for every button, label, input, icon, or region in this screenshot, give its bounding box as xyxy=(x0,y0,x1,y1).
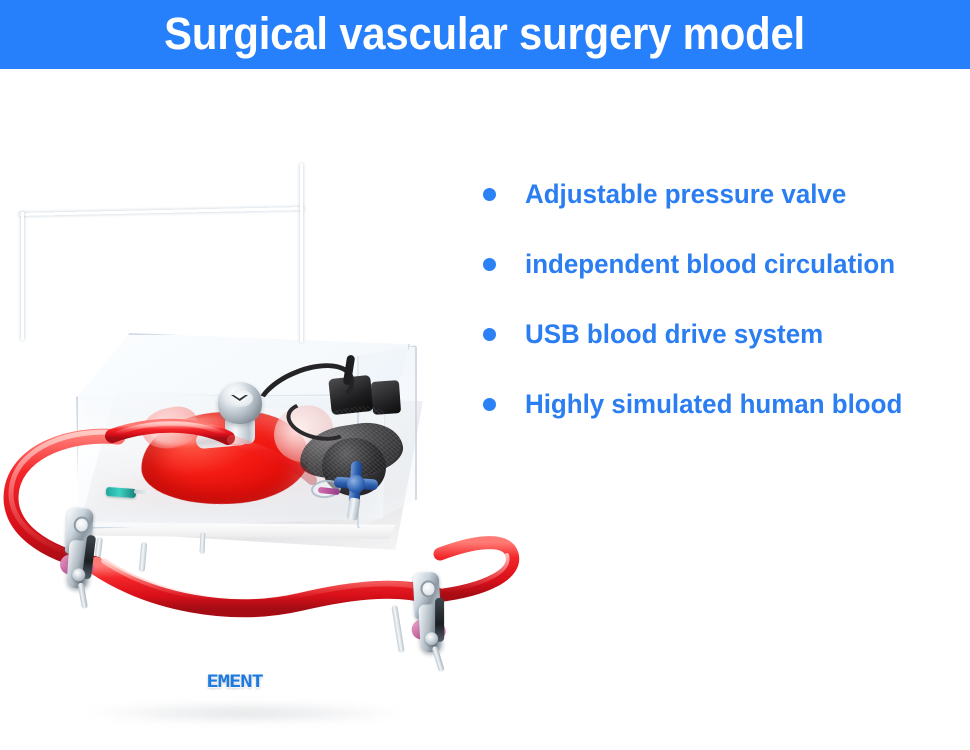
metal-tube-clamp xyxy=(52,503,124,597)
support-leg xyxy=(139,542,148,572)
product-photo: EMENT xyxy=(0,150,500,590)
product-image-canvas: Surgical vascular surgery model xyxy=(0,0,970,600)
bullet-icon xyxy=(483,188,496,201)
feature-list: Adjustable pressure valve independent bl… xyxy=(483,176,963,422)
enclosure-edge xyxy=(300,164,303,342)
feature-label: USB blood drive system xyxy=(525,321,823,348)
bullet-icon xyxy=(483,398,496,411)
feature-item-1: Adjustable pressure valve xyxy=(483,176,963,212)
metal-tube-clamp xyxy=(402,566,469,669)
feature-label: Adjustable pressure valve xyxy=(525,181,846,208)
feature-label: independent blood circulation xyxy=(525,251,895,278)
blue-stopcock-hub xyxy=(347,475,365,493)
feature-item-3: USB blood drive system xyxy=(483,316,963,352)
support-leg xyxy=(199,532,205,554)
page-title: Surgical vascular surgery model xyxy=(165,11,806,59)
bullet-icon xyxy=(483,258,496,271)
support-leg xyxy=(391,605,404,653)
feature-item-4: Highly simulated human blood xyxy=(483,386,963,422)
clamp-tail xyxy=(431,646,444,673)
enclosure-edge xyxy=(19,207,304,216)
feature-item-2: independent blood circulation xyxy=(483,246,963,282)
bullet-icon xyxy=(483,328,496,341)
header-banner: Surgical vascular surgery model xyxy=(0,0,970,69)
enclosure-edge xyxy=(21,212,24,340)
feature-label: Highly simulated human blood xyxy=(525,391,902,418)
clamp-tail xyxy=(78,582,88,609)
drop-shadow xyxy=(80,702,410,724)
brand-logo: EMENT xyxy=(206,671,262,692)
